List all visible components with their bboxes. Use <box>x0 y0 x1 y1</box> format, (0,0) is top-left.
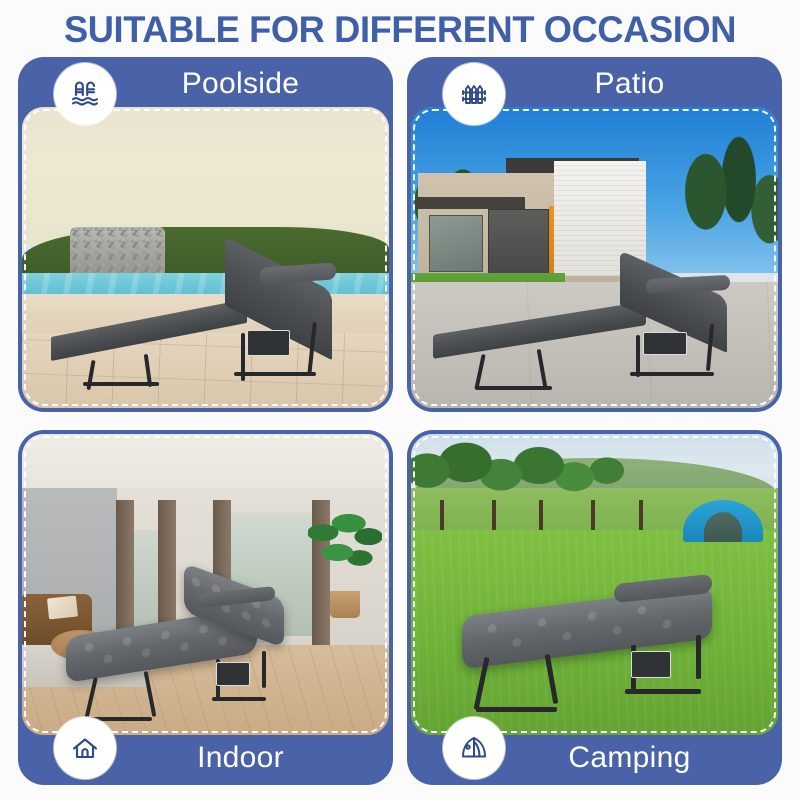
product-tufted-cot-indoor <box>66 578 294 722</box>
tent-icon <box>443 717 505 779</box>
patio-photo <box>411 107 778 408</box>
page-title: SUITABLE FOR DIFFERENT OCCASION <box>8 8 792 52</box>
fence-icon <box>443 63 505 125</box>
infographic-page: SUITABLE FOR DIFFERENT OCCASION <box>0 0 800 800</box>
occasion-card-indoor[interactable]: Indoor <box>18 430 393 785</box>
patio-label-bar: Patio <box>407 57 782 111</box>
camping-photo <box>411 434 778 735</box>
product-folding-cot-patio <box>433 258 756 396</box>
house-icon <box>54 717 116 779</box>
poolside-photo <box>22 107 389 408</box>
occasion-grid: Poolside <box>18 57 782 787</box>
tent-in-scene <box>683 500 764 542</box>
poolside-label-bar: Poolside <box>18 57 393 111</box>
occasion-card-camping[interactable]: Camping <box>407 430 782 785</box>
occasion-card-poolside[interactable]: Poolside <box>18 57 393 412</box>
occasion-card-patio[interactable]: Patio <box>407 57 782 412</box>
product-lounge-chair-poolside <box>51 239 367 390</box>
indoor-photo <box>22 434 389 735</box>
camping-label-bar: Camping <box>407 731 782 785</box>
product-tufted-cot-camping <box>462 566 734 723</box>
indoor-label-bar: Indoor <box>18 731 393 785</box>
pool-ladder-icon <box>54 63 116 125</box>
